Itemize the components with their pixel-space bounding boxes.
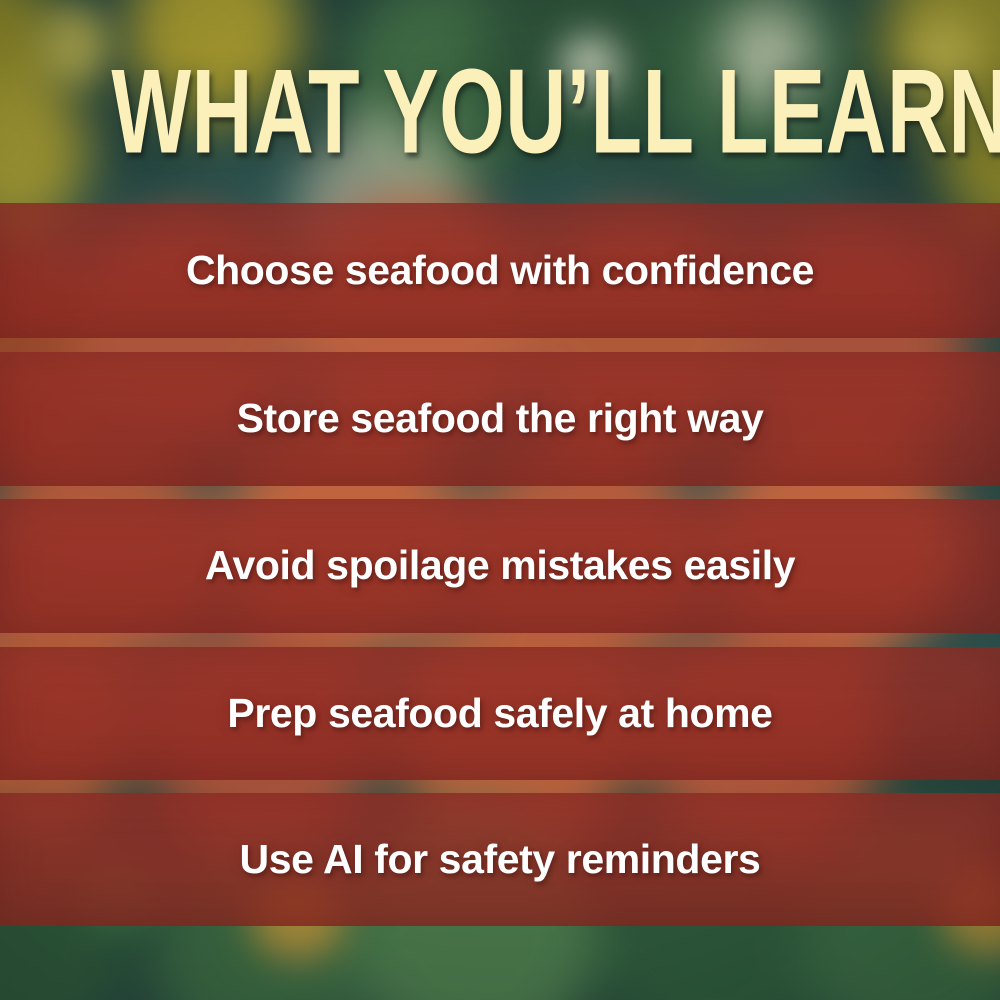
list-item-label: Prep seafood safely at home [227, 692, 772, 735]
list-item[interactable]: Store seafood the right way [0, 352, 1000, 486]
list-item[interactable]: Choose seafood with confidence [0, 203, 1000, 338]
list-item-label: Choose seafood with confidence [186, 249, 814, 292]
title-container: WHAT YOU’LL LEARN INSIDE [0, 54, 1000, 155]
poster-canvas: WHAT YOU’LL LEARN INSIDE Choose seafood … [0, 0, 1000, 1000]
list-item-label: Avoid spoilage mistakes easily [205, 544, 795, 587]
list-item[interactable]: Use AI for safety reminders [0, 793, 1000, 926]
list-item[interactable]: Prep seafood safely at home [0, 647, 1000, 780]
list-item[interactable]: Avoid spoilage mistakes easily [0, 499, 1000, 633]
list-item-label: Store seafood the right way [237, 397, 764, 440]
list-item-label: Use AI for safety reminders [240, 838, 761, 881]
page-title: WHAT YOU’LL LEARN INSIDE [111, 54, 888, 171]
